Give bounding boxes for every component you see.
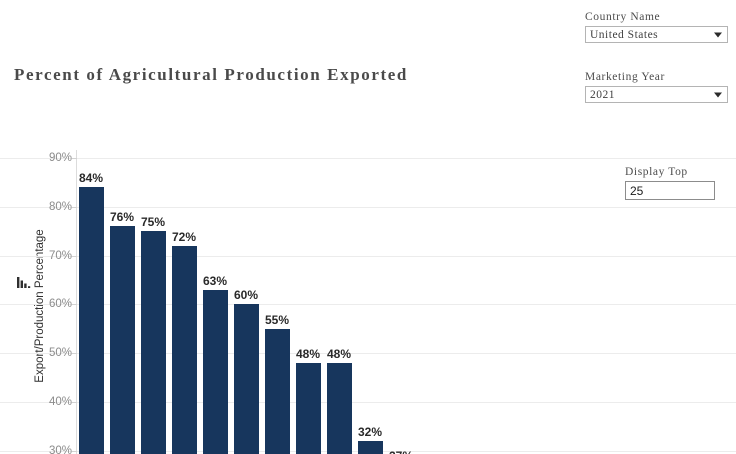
bar-value-label: 72% bbox=[167, 230, 201, 244]
y-axis-tick-label: 60% bbox=[49, 298, 72, 310]
y-axis-tick-label: 30% bbox=[49, 445, 72, 454]
display-top-control: Display Top 25 bbox=[625, 166, 715, 200]
chevron-down-icon bbox=[714, 92, 722, 97]
y-axis-tick-mark bbox=[72, 158, 77, 159]
y-axis-tick-label: 40% bbox=[49, 396, 72, 408]
bar-value-label: 84% bbox=[74, 171, 108, 185]
y-axis-tick-label: 80% bbox=[49, 201, 72, 213]
y-axis-tick-label: 90% bbox=[49, 152, 72, 164]
bar[interactable] bbox=[79, 187, 104, 454]
bar[interactable] bbox=[358, 441, 383, 454]
bar[interactable] bbox=[234, 304, 259, 454]
bar[interactable] bbox=[110, 226, 135, 454]
display-top-input[interactable]: 25 bbox=[625, 181, 715, 200]
y-axis-tick-mark bbox=[72, 353, 77, 354]
dashboard-page: Country Name United States Marketing Yea… bbox=[0, 0, 736, 454]
y-axis-tick-mark bbox=[72, 402, 77, 403]
bar-value-label: 32% bbox=[353, 425, 387, 439]
bar-value-label: 48% bbox=[291, 347, 325, 361]
bar-value-label: 48% bbox=[322, 347, 356, 361]
display-top-label: Display Top bbox=[625, 166, 715, 178]
bar[interactable] bbox=[172, 246, 197, 454]
bar[interactable] bbox=[203, 290, 228, 454]
bar[interactable] bbox=[141, 231, 166, 454]
y-axis-tick-label: 50% bbox=[49, 347, 72, 359]
filter-country-name: Country Name United States bbox=[585, 11, 728, 43]
bar-value-label: 76% bbox=[105, 210, 139, 224]
chevron-down-icon bbox=[714, 32, 722, 37]
y-axis-tick-mark bbox=[72, 207, 77, 208]
y-axis-tick-mark bbox=[72, 256, 77, 257]
gridline bbox=[0, 158, 736, 159]
bar-value-label: 63% bbox=[198, 274, 232, 288]
y-axis-tick-label: 70% bbox=[49, 250, 72, 262]
bar-value-label: 55% bbox=[260, 313, 294, 327]
filter-marketing-year-label: Marketing Year bbox=[585, 71, 728, 83]
filter-country-name-label: Country Name bbox=[585, 11, 728, 23]
y-axis-tick-mark bbox=[72, 451, 77, 452]
page-title: Percent of Agricultural Production Expor… bbox=[14, 65, 408, 85]
bar[interactable] bbox=[265, 329, 290, 454]
bar[interactable] bbox=[327, 363, 352, 454]
country-name-value: United States bbox=[586, 29, 658, 41]
filter-marketing-year: Marketing Year 2021 bbox=[585, 71, 728, 103]
bar-value-label: 75% bbox=[136, 215, 170, 229]
bar-value-label: 60% bbox=[229, 288, 263, 302]
country-name-dropdown[interactable]: United States bbox=[585, 26, 728, 43]
gridline bbox=[0, 207, 736, 208]
y-axis-tick-mark bbox=[72, 304, 77, 305]
marketing-year-value: 2021 bbox=[586, 89, 615, 101]
bar[interactable] bbox=[296, 363, 321, 454]
marketing-year-dropdown[interactable]: 2021 bbox=[585, 86, 728, 103]
display-top-value: 25 bbox=[626, 184, 643, 198]
y-axis-line bbox=[76, 150, 77, 454]
bar-value-label: 27% bbox=[384, 449, 418, 454]
